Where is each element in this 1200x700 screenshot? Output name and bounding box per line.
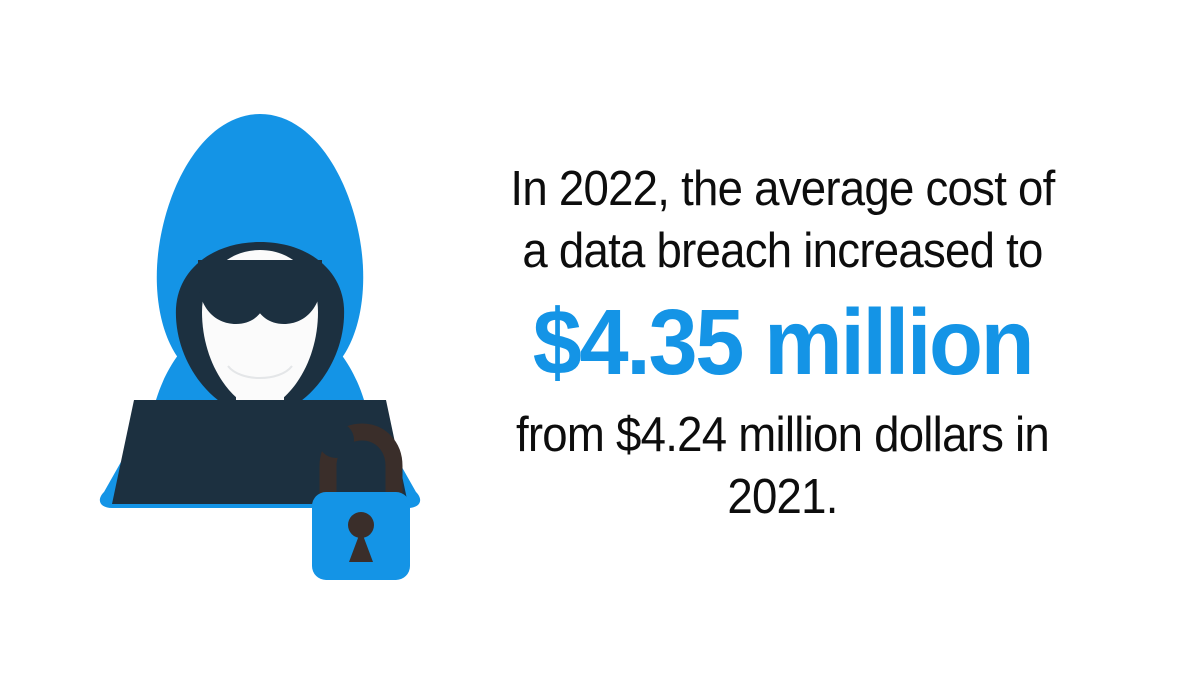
padlock-shackle-knob xyxy=(318,422,354,458)
headline-stat: $4.35 million xyxy=(471,286,1093,398)
tail-line-1: from $4.24 million dollars in xyxy=(478,404,1087,466)
infographic-canvas: In 2022, the average cost of a data brea… xyxy=(0,0,1200,700)
laptop xyxy=(112,400,408,504)
lead-line-1: In 2022, the average cost of xyxy=(478,158,1087,220)
tail-line-2: 2021. xyxy=(478,466,1087,528)
hacker-with-laptop-icon xyxy=(60,100,460,600)
lead-line-2: a data breach increased to xyxy=(478,220,1087,282)
hacker-illustration xyxy=(60,100,460,600)
stat-text-block: In 2022, the average cost of a data brea… xyxy=(455,158,1110,528)
